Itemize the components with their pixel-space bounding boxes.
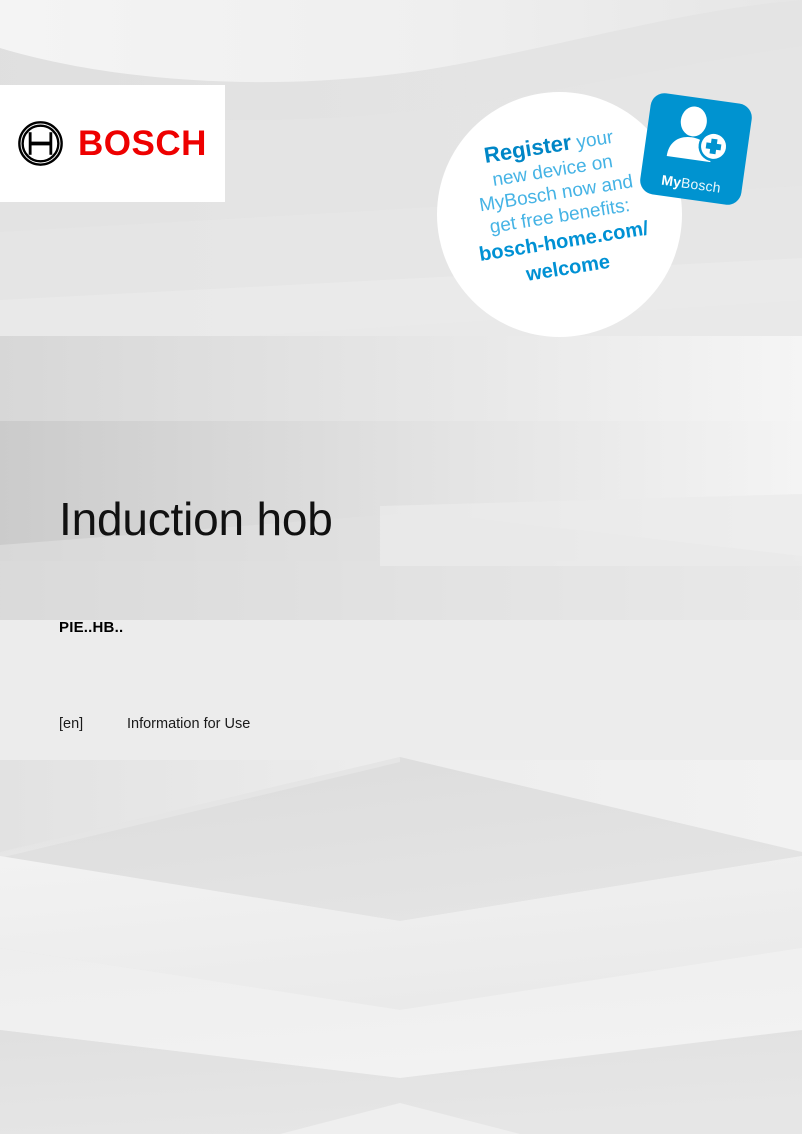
user-plus-icon: [659, 99, 738, 166]
mybosch-tile[interactable]: MyBosch: [638, 91, 753, 206]
bosch-wordmark: BOSCH: [78, 126, 207, 161]
model-number: PIE..HB..: [59, 619, 123, 636]
bosch-logo: BOSCH: [0, 85, 225, 202]
cover-page: BOSCH Register your new device on MyBosc…: [0, 0, 802, 1134]
page-title: Induction hob: [59, 494, 333, 545]
bosch-armature-icon: [17, 120, 64, 167]
product-title: Induction hob: [59, 494, 333, 545]
document-type: Information for Use: [127, 716, 250, 732]
mybosch-label-my: My: [660, 172, 682, 191]
language-code: [en]: [59, 716, 127, 732]
register-promo-badge[interactable]: Register your new device on MyBosch now …: [437, 92, 682, 337]
language-document-row: [en] Information for Use: [59, 716, 250, 732]
mybosch-label-bosch: Bosch: [680, 174, 722, 195]
mybosch-label: MyBosch: [640, 170, 743, 198]
